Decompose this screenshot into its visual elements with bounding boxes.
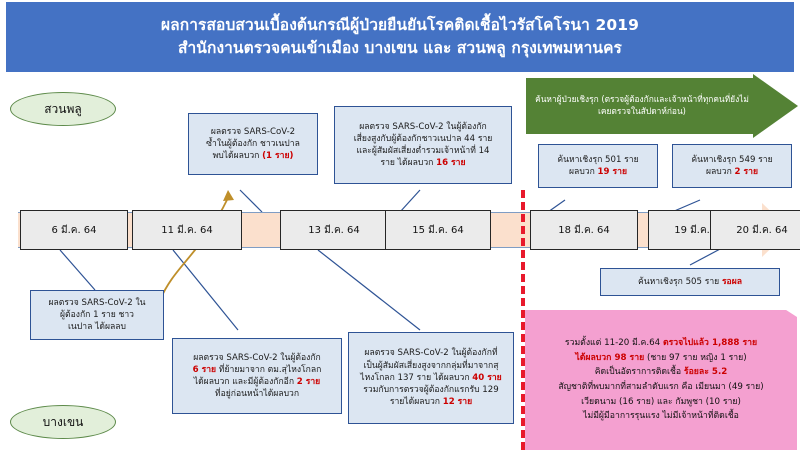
callout-kolok-line4: ที่อยู่ก่อนหน้าได้ผลบวก <box>215 389 299 399</box>
timeline-date-6-label: 20 มี.ค. 64 <box>736 223 787 238</box>
callout-kcontacts-line5: รายได้ผลบวก <box>390 397 443 407</box>
callout-505-status: รอผล <box>722 277 742 287</box>
callout-firstneg-line3: เนปาล ได้ผลลบ <box>68 322 126 332</box>
callout-repeat-line2: ซ้ำในผู้ต้องกัก ชาวเนปาล <box>206 139 300 149</box>
callout-highrisk-line1: ผลตรวจ SARS-CoV-2 ในผู้ต้องกัก <box>359 122 487 132</box>
callout-kolok-line3: ได้ผลบวก และมีผู้ต้องกักอีก <box>194 377 297 387</box>
callout-high-risk-contacts: ผลตรวจ SARS-CoV-2 ในผู้ต้องกัก เสี่ยงสูง… <box>334 106 512 184</box>
phase-divider <box>521 190 525 450</box>
callout-highrisk-line4: ราย ได้ผลบวก <box>380 158 436 168</box>
wire-repeat-to-11mar <box>240 190 262 212</box>
callout-kcontacts-count-a: 40 ราย <box>472 373 501 383</box>
summary-rate-prefix: คิดเป็นอัตราการติดเชื้อ <box>595 367 684 377</box>
timeline-date-0[interactable]: 6 มี.ค. 64 <box>20 210 128 250</box>
callout-505-text: ค้นหาเชิงรุก 505 ราย <box>638 277 722 287</box>
summary-positive-count: ได้ผลบวก 98 ราย <box>575 353 644 363</box>
summary-rate-value: ร้อยละ 5.2 <box>684 367 727 377</box>
wire-kolok-to-11mar <box>173 250 238 330</box>
region-label-suanphlu-text: สวนพลู <box>44 100 82 119</box>
callout-501-count: 19 ราย <box>598 167 627 177</box>
wire-505-to-20mar <box>690 248 722 265</box>
timeline-date-4-label: 18 มี.ค. 64 <box>558 223 609 238</box>
callout-kcontacts-count-b: 12 ราย <box>443 397 472 407</box>
summary-row-severity: ไม่มีผู้มีอาการรุนแรง ไม่มีเจ้าหน้าที่ติ… <box>583 410 739 423</box>
callout-first-negative: ผลตรวจ SARS-CoV-2 ใน ผู้ต้องกัก 1 ราย ชา… <box>30 290 164 340</box>
callout-501-line2: ผลบวก <box>569 167 598 177</box>
region-label-bangkhen: บางเขน <box>10 405 116 439</box>
callout-repeat-count: (1 ราย) <box>262 151 293 161</box>
callout-firstneg-line2: ผู้ต้องกัก 1 ราย ชาว <box>60 310 134 320</box>
timeline-date-1-label: 11 มี.ค. 64 <box>161 223 212 238</box>
timeline-date-3-label: 15 มี.ค. 64 <box>412 223 463 238</box>
header-title-line-1: ผลการสอบสวนเบื้องต้นกรณีผู้ป่วยยืนยันโรค… <box>161 16 639 35</box>
timeline-date-1[interactable]: 11 มี.ค. 64 <box>132 210 242 250</box>
timeline-date-6[interactable]: 20 มี.ค. 64 <box>710 210 800 250</box>
header-banner: ผลการสอบสวนเบื้องต้นกรณีผู้ป่วยยืนยันโรค… <box>6 2 794 72</box>
region-label-suanphlu: สวนพลู <box>10 92 116 126</box>
callout-sungai-kolok: ผลตรวจ SARS-CoV-2 ในผู้ต้องกัก 6 ราย ที่… <box>172 338 342 414</box>
timeline-date-3[interactable]: 15 มี.ค. 64 <box>385 210 491 250</box>
summary-total-prefix: รวมตั้งแต่ 11-20 มี.ค.64 <box>565 338 663 348</box>
wire-orange-arrowhead <box>223 190 234 201</box>
callout-highrisk-line3: และผู้สัมผัสเสี่ยงต่ำรวมเจ้าหน้าที่ 14 <box>356 146 489 156</box>
callout-501-line1: ค้นหาเชิงรุก 501 ราย <box>557 155 638 165</box>
timeline-date-2-label: 13 มี.ค. 64 <box>308 223 359 238</box>
region-label-bangkhen-text: บางเขน <box>43 413 84 432</box>
callout-kcontacts-line2: เป็นผู้สัมผัสเสี่ยงสูงจากกลุ่มที่มาจากสุ <box>363 361 498 371</box>
callout-repeat-line1: ผลตรวจ SARS-CoV-2 <box>211 127 295 137</box>
timeline-date-4[interactable]: 18 มี.ค. 64 <box>530 210 638 250</box>
callout-active-505: ค้นหาเชิงรุก 505 ราย รอผล <box>600 268 780 296</box>
callout-kolok-contacts: ผลตรวจ SARS-CoV-2 ในผู้ต้องกักที่ เป็นผู… <box>348 332 514 424</box>
callout-kcontacts-line3: ไหงโกลก 137 ราย ได้ผลบวก <box>360 373 472 383</box>
arrow-tip <box>753 74 798 138</box>
callout-kolok-line2: ที่ย้ายมาจาก ตม.สุไหงโกลก <box>216 365 321 375</box>
callout-kolok-line1: ผลตรวจ SARS-CoV-2 ในผู้ต้องกัก <box>193 353 321 363</box>
summary-row-total: รวมตั้งแต่ 11-20 มี.ค.64 ตรวจไปแล้ว 1,88… <box>565 337 757 350</box>
arrow-label: ค้นหาผู้ป่วยเชิงรุก (ตรวจผู้ต้องกักและเจ… <box>526 78 758 134</box>
summary-row-positive: ได้ผลบวก 98 ราย (ชาย 97 ราย หญิง 1 ราย) <box>575 352 746 365</box>
summary-row-rate: คิดเป็นอัตราการติดเชื้อ ร้อยละ 5.2 <box>595 366 728 379</box>
callout-highrisk-count: 16 ราย <box>436 158 465 168</box>
callout-kolok-count-a: 6 ราย <box>193 365 216 375</box>
callout-active-549: ค้นหาเชิงรุก 549 ราย ผลบวก 2 ราย <box>672 144 792 188</box>
callout-549-line2: ผลบวก <box>706 167 735 177</box>
wire-contacts-to-13mar <box>318 250 420 330</box>
callout-active-501: ค้นหาเชิงรุก 501 ราย ผลบวก 19 ราย <box>538 144 658 188</box>
timeline-date-0-label: 6 มี.ค. 64 <box>51 223 96 238</box>
wire-highrisk-to-13mar <box>400 190 420 212</box>
callout-kolok-count-b: 2 ราย <box>297 377 320 387</box>
callout-549-line1: ค้นหาเชิงรุก 549 ราย <box>691 155 772 165</box>
callout-549-count: 2 ราย <box>735 167 758 177</box>
summary-positive-breakdown: (ชาย 97 ราย หญิง 1 ราย) <box>644 353 746 363</box>
callout-firstneg-line1: ผลตรวจ SARS-CoV-2 ใน <box>48 298 145 308</box>
callout-repeat-line3: พบได้ผลบวก <box>213 151 263 161</box>
header-title-line-2: สำนักงานตรวจคนเข้าเมือง บางเขน และ สวนพล… <box>178 39 622 58</box>
infographic-root: ผลการสอบสวนเบื้องต้นกรณีผู้ป่วยยืนยันโรค… <box>0 0 800 450</box>
callout-kcontacts-line4: รวมกับการตรวจผู้ต้องกักแรกรับ 129 <box>363 385 498 395</box>
summary-row-nationalities-1: สัญชาติที่พบมากที่สามลำดับแรก คือ เมียนม… <box>558 381 763 394</box>
active-case-finding-arrow: ค้นหาผู้ป่วยเชิงรุก (ตรวจผู้ต้องกักและเจ… <box>526 78 798 134</box>
summary-row-nationalities-2: เวียดนาม (16 ราย) และ กัมพูชา (10 ราย) <box>581 396 741 409</box>
timeline-date-2[interactable]: 13 มี.ค. 64 <box>280 210 388 250</box>
wire-firstneg-to-6mar <box>60 250 95 290</box>
summary-total-tested: ตรวจไปแล้ว 1,888 ราย <box>663 338 757 348</box>
callout-repeat-test: ผลตรวจ SARS-CoV-2 ซ้ำในผู้ต้องกัก ชาวเนป… <box>188 113 318 175</box>
callout-kcontacts-line1: ผลตรวจ SARS-CoV-2 ในผู้ต้องกักที่ <box>364 348 497 358</box>
summary-panel: รวมตั้งแต่ 11-20 มี.ค.64 ตรวจไปแล้ว 1,88… <box>525 310 797 450</box>
callout-highrisk-line2: เสี่ยงสูงกับผู้ต้องกักชาวเนปาล 44 ราย <box>354 134 493 144</box>
